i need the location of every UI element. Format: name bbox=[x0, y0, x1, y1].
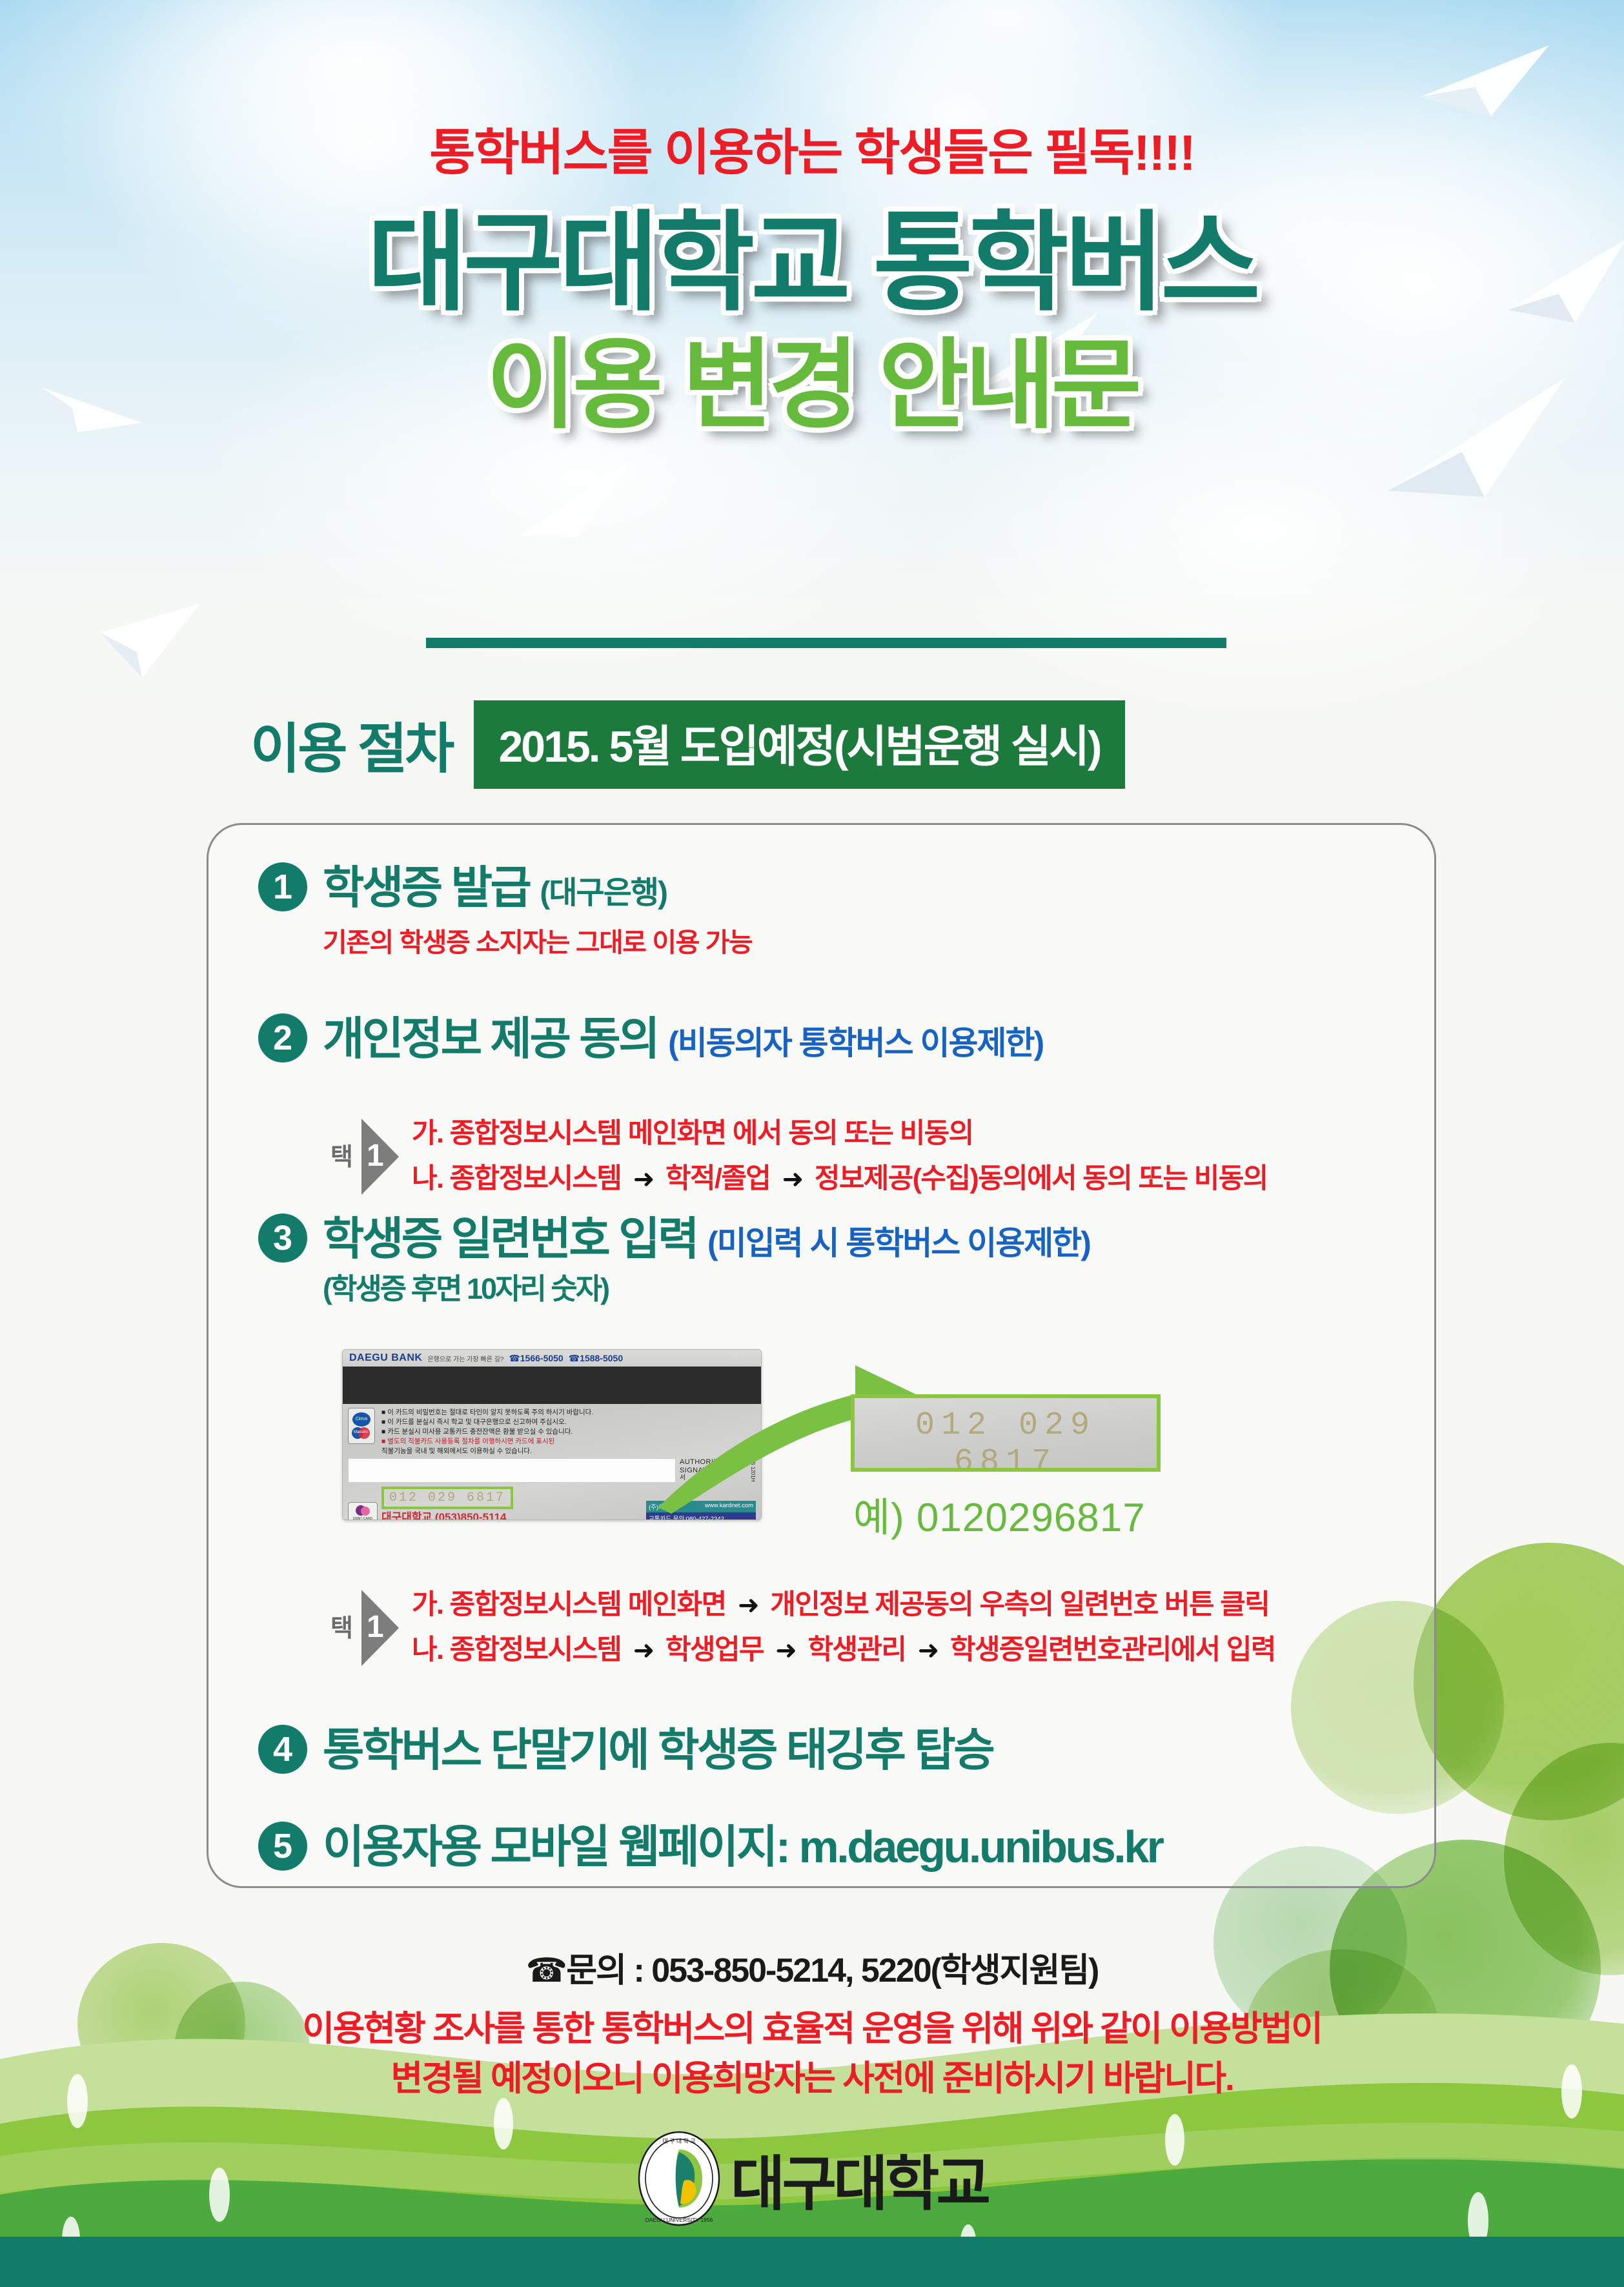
right-arrow-icon: ➜ bbox=[913, 1636, 944, 1665]
maestro-icon: Maestro bbox=[352, 1427, 371, 1440]
step-2-heading-text: 개인정보 제공 동의 bbox=[323, 1013, 658, 1064]
university-logo-row: 대 구 대 학 교 DAEGU UNIVERSITY 1956 대구대학교 bbox=[0, 2130, 1624, 2227]
choice-line: 나. 종합정보시스템 ➜ 학생업무 ➜ 학생관리 ➜ 학생증일련번호관리에서 입… bbox=[412, 1628, 1275, 1673]
choice-segment: 정보제공(수집)동의에서 동의 또는 비동의 bbox=[815, 1163, 1268, 1194]
card-bank-tagline: 은행으로 가는 가장 빠른 길? bbox=[427, 1354, 503, 1363]
choice-segment: 학생관리 bbox=[808, 1634, 906, 1665]
step-4-heading: 통학버스 단말기에 학생증 태깅후 탑승 bbox=[323, 1725, 993, 1775]
serial-example-text: 예) 0120296817 bbox=[853, 1485, 1146, 1543]
cirrus-icon: Cirrus bbox=[352, 1412, 370, 1427]
step-1-note: 기존의 학생증 소지자는 그대로 이용 가능 bbox=[323, 920, 752, 959]
step-number-badge: 1 bbox=[258, 862, 307, 911]
card-tel-2: ☎1588-5050 bbox=[569, 1353, 623, 1364]
step-2-heading: 개인정보 제공 동의 (비동의자 통학버스 이용제한) bbox=[323, 1013, 1043, 1064]
step-number-badge: 5 bbox=[258, 1822, 307, 1871]
contact-line: ☎문의 : 053-850-5214, 5220(학생지원팀) bbox=[0, 1943, 1624, 1991]
choice-block-1: 택 1 가. 종합정보시스템 메인화면 에서 동의 또는 비동의 나. 종합정보… bbox=[329, 1112, 1268, 1201]
step-5: 5 이용자용 모바일 웹페이지: m.daegu.unibus.kr bbox=[258, 1822, 1162, 1872]
step-3-heading: 학생증 일련번호 입력 (미입력 시 통학버스 이용제한) bbox=[323, 1214, 1090, 1264]
choice-prefix: 나. bbox=[412, 1634, 443, 1665]
choice-prefix: 가. bbox=[412, 1118, 443, 1149]
step-2-suffix: (비동의자 통학버스 이용제한) bbox=[668, 1025, 1043, 1061]
footer-bar bbox=[0, 2237, 1624, 2287]
card-tel-1: ☎1566-5050 bbox=[509, 1353, 563, 1364]
svg-text:DAEGU UNIVERSITY 1956: DAEGU UNIVERSITY 1956 bbox=[645, 2217, 713, 2223]
card-university-line: 대구대학교 (053)850-5114 bbox=[381, 1508, 642, 1520]
notice-text: 이용현황 조사를 통한 통학버스의 효율적 운영을 위해 위와 같이 이용방법이… bbox=[0, 2004, 1624, 2103]
debit-card-icon: DEBIT CARD bbox=[348, 1502, 378, 1520]
right-arrow-icon: ➜ bbox=[770, 1636, 801, 1665]
step-5-heading: 이용자용 모바일 웹페이지: m.daegu.unibus.kr bbox=[323, 1822, 1162, 1872]
step-3-subline: (학생증 후면 10자리 숫자) bbox=[323, 1265, 1090, 1307]
card-network-logos: Cirrus Maestro bbox=[348, 1408, 376, 1456]
title-line-2: 이용 변경 안내문 bbox=[0, 330, 1624, 440]
step-1: 1 학생증 발급 (대구은행) 기존의 학생증 소지자는 그대로 이용 가능 bbox=[258, 862, 752, 959]
choice-segment: 종합정보시스템 bbox=[450, 1634, 622, 1665]
step-4: 4 통학버스 단말기에 학생증 태깅후 탑승 bbox=[258, 1725, 993, 1775]
step-3-suffix: (미입력 시 통학버스 이용제한) bbox=[707, 1225, 1090, 1261]
section-badge: 2015. 5월 도입예정(시범운행 실시) bbox=[474, 700, 1124, 789]
notice-line-2: 변경될 예정이오니 이용희망자는 사전에 준비하시기 바랍니다. bbox=[0, 2054, 1624, 2104]
choice-block-2: 택 1 가. 종합정보시스템 메인화면 ➜ 개인정보 제공동의 우측의 일련번호… bbox=[329, 1583, 1275, 1672]
choice-line: 가. 종합정보시스템 메인화면 에서 동의 또는 비동의 bbox=[412, 1112, 1268, 1157]
step-3-heading-text: 학생증 일련번호 입력 bbox=[323, 1214, 697, 1264]
choice-segment: 종합정보시스템 메인화면 에서 동의 또는 비동의 bbox=[450, 1118, 973, 1149]
section-header: 이용 절차 2015. 5월 도입예정(시범운행 실시) bbox=[250, 700, 1125, 789]
poster-root: 통학버스를 이용하는 학생들은 필독!!!! 대구대학교 통학버스 이용 변경 … bbox=[0, 0, 1624, 2287]
step-1-heading: 학생증 발급 (대구은행) bbox=[323, 862, 752, 913]
choice-segment: 학적/졸업 bbox=[665, 1163, 770, 1194]
choice-segment: 학생증일련번호관리에서 입력 bbox=[950, 1634, 1275, 1665]
choice-prefix: 가. bbox=[412, 1589, 443, 1620]
step-2: 2 개인정보 제공 동의 (비동의자 통학버스 이용제한) bbox=[258, 1013, 1043, 1064]
svg-text:대 구 대 학 교: 대 구 대 학 교 bbox=[662, 2138, 695, 2144]
choice-count: 1 bbox=[367, 1138, 384, 1174]
right-arrow-icon: ➜ bbox=[628, 1165, 659, 1194]
choice-segment: 종합정보시스템 bbox=[450, 1163, 622, 1194]
kicker-text: 통학버스를 이용하는 학생들은 필독!!!! bbox=[0, 113, 1624, 185]
right-arrow-icon: ➜ bbox=[777, 1165, 808, 1194]
choice-label: 택 bbox=[330, 1608, 353, 1643]
step-number-badge: 3 bbox=[258, 1214, 307, 1263]
watercolor-blob bbox=[1414, 1543, 1624, 1820]
daegu-university-seal-icon: 대 구 대 학 교 DAEGU UNIVERSITY 1956 bbox=[636, 2130, 722, 2227]
poster-title: 대구대학교 통학버스 이용 변경 안내문 bbox=[0, 205, 1624, 440]
card-bank-name: DAEGU BANK bbox=[349, 1352, 422, 1364]
choice-label: 택 bbox=[330, 1137, 353, 1172]
choice-line: 가. 종합정보시스템 메인화면 ➜ 개인정보 제공동의 우측의 일련번호 버튼 … bbox=[412, 1583, 1275, 1628]
choice-line: 나. 종합정보시스템 ➜ 학적/졸업 ➜ 정보제공(수집)동의에서 동의 또는 … bbox=[412, 1157, 1268, 1202]
step-number-badge: 2 bbox=[258, 1013, 307, 1062]
notice-line-1: 이용현황 조사를 통한 통학버스의 효율적 운영을 위해 위와 같이 이용방법이 bbox=[0, 2004, 1624, 2054]
right-arrow-icon: ➜ bbox=[628, 1636, 659, 1665]
choice-marker: 택 1 bbox=[329, 1119, 401, 1195]
choice-prefix: 나. bbox=[412, 1163, 443, 1194]
callout-serial: 012 029 6817 bbox=[855, 1398, 1157, 1472]
maestro-label: Maestro bbox=[354, 1430, 368, 1434]
choice-count: 1 bbox=[367, 1609, 384, 1645]
card-serial-number: 012 029 6817 bbox=[381, 1487, 513, 1509]
step-number-badge: 4 bbox=[258, 1725, 307, 1774]
title-line-1: 대구대학교 통학버스 bbox=[0, 205, 1624, 321]
step-3: 3 학생증 일련번호 입력 (미입력 시 통학버스 이용제한) (학생증 후면 … bbox=[258, 1214, 1090, 1307]
step-1-heading-text: 학생증 발급 bbox=[323, 862, 529, 913]
right-arrow-icon: ➜ bbox=[733, 1591, 764, 1620]
step-1-suffix: (대구은행) bbox=[540, 876, 667, 910]
title-divider bbox=[426, 638, 1226, 648]
section-title: 이용 절차 bbox=[250, 706, 452, 784]
choice-segment: 학생업무 bbox=[665, 1634, 764, 1665]
choice-segment: 개인정보 제공동의 우측의 일련번호 버튼 클릭 bbox=[770, 1589, 1269, 1620]
card-signature-box bbox=[348, 1458, 676, 1483]
choice-marker: 택 1 bbox=[329, 1590, 401, 1666]
university-name: 대구대학교 bbox=[731, 2136, 988, 2222]
serial-callout-zoom: 012 029 6817 대구대학교 (053)850-5 bbox=[851, 1394, 1161, 1472]
debit-label: DEBIT CARD bbox=[353, 1517, 372, 1520]
watercolor-blob bbox=[1504, 1743, 1624, 1975]
choice-segment: 종합정보시스템 메인화면 bbox=[450, 1589, 726, 1620]
